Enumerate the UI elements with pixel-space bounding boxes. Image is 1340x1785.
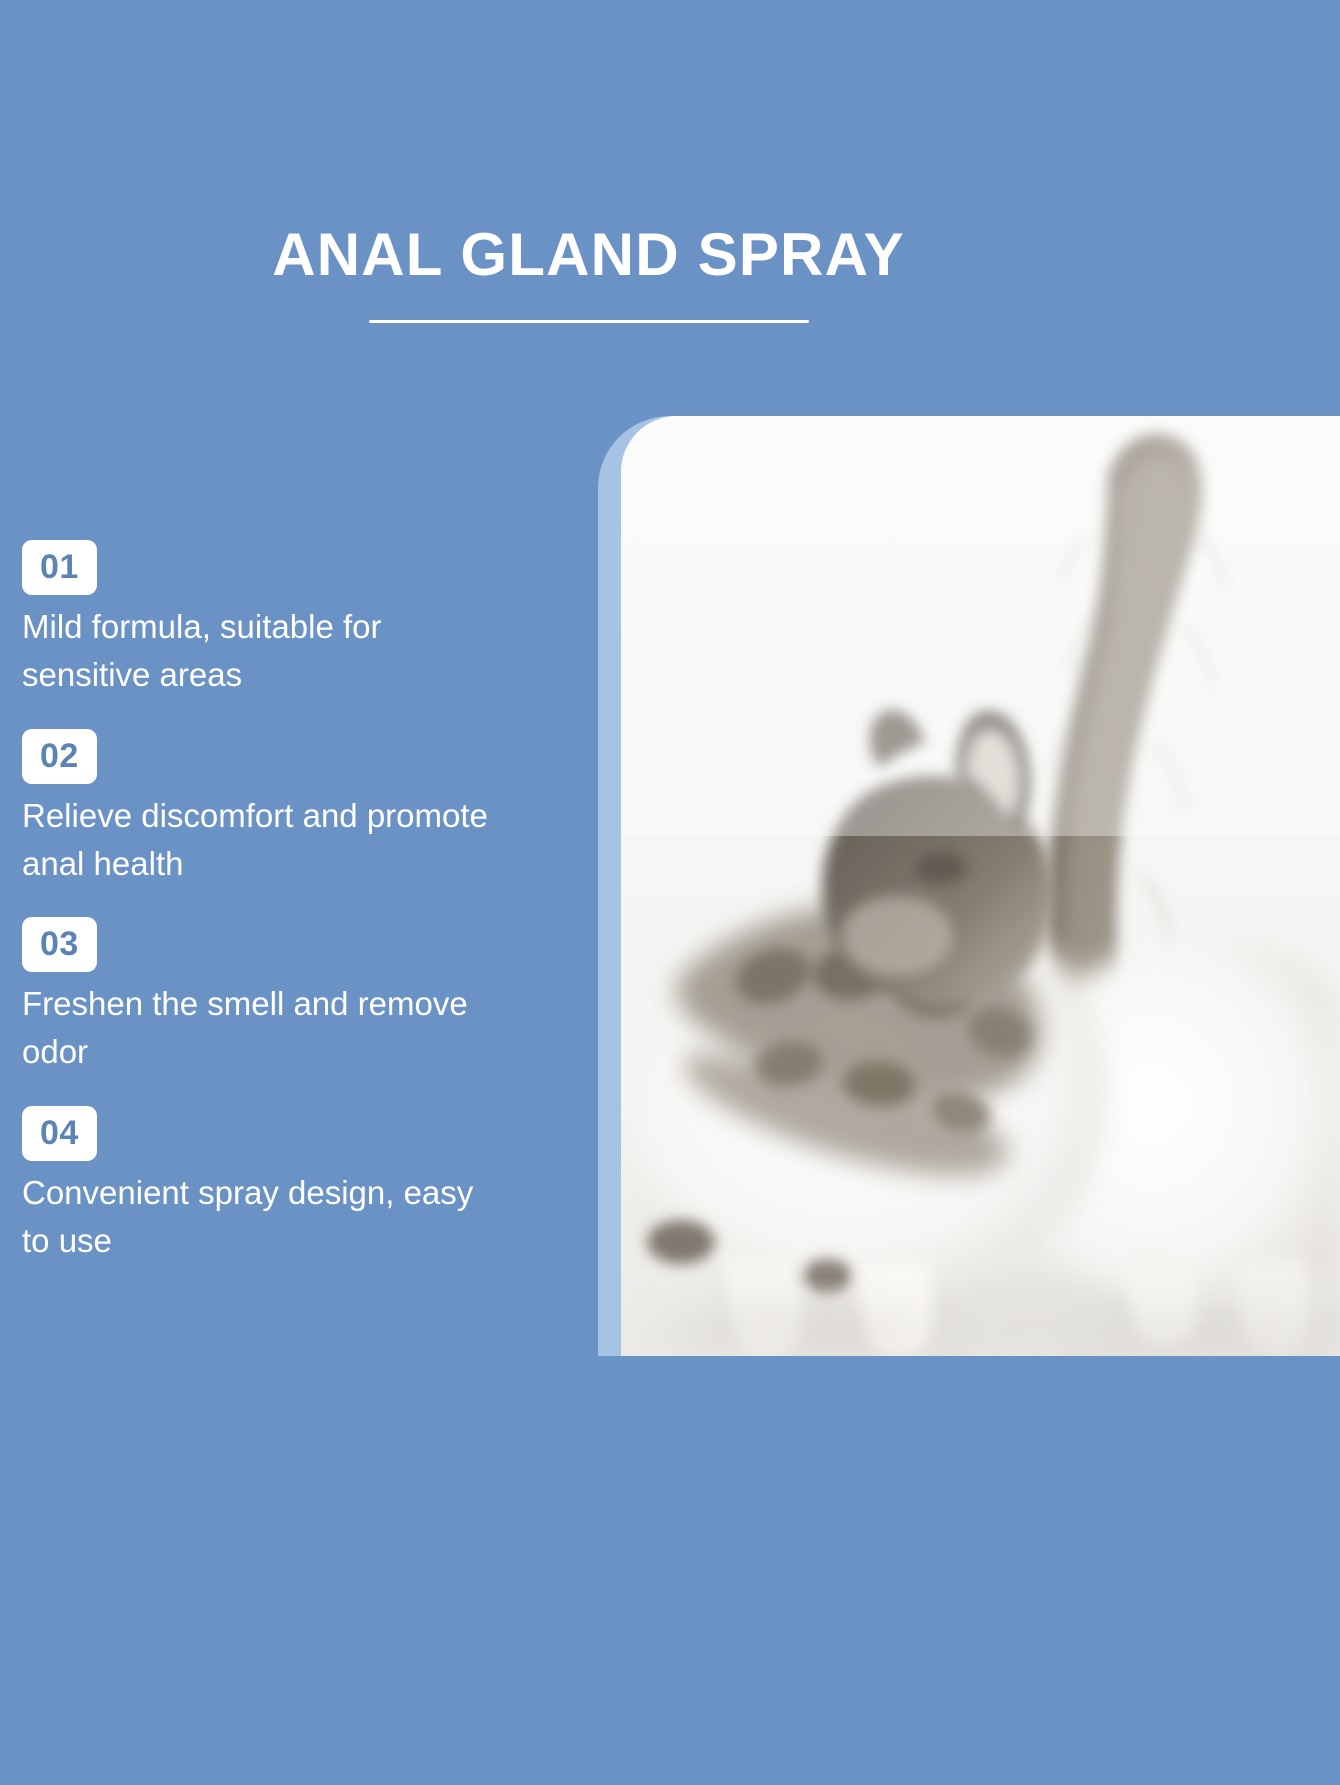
feature-number-badge: 03 (22, 917, 97, 972)
list-item: 01 Mild formula, suitable for sensitive … (22, 540, 492, 699)
title-block: ANAL GLAND SPRAY (0, 222, 1177, 323)
feature-number-badge: 02 (22, 729, 97, 784)
feature-description: Mild formula, suitable for sensitive are… (22, 603, 492, 699)
feature-description: Freshen the smell and remove odor (22, 980, 492, 1076)
list-item: 04 Convenient spray design, easy to use (22, 1106, 492, 1265)
cat-photo (621, 416, 1340, 1356)
list-item: 03 Freshen the smell and remove odor (22, 917, 492, 1076)
feature-list: 01 Mild formula, suitable for sensitive … (22, 540, 492, 1265)
feature-number-badge: 01 (22, 540, 97, 595)
feature-number-badge: 04 (22, 1106, 97, 1161)
list-item: 02 Relieve discomfort and promote anal h… (22, 729, 492, 888)
product-photo-card (598, 416, 1340, 1356)
feature-description: Convenient spray design, easy to use (22, 1169, 492, 1265)
title-divider (369, 320, 809, 323)
product-feature-poster: ANAL GLAND SPRAY 01 Mild formula, suitab… (0, 0, 1340, 1785)
page-title: ANAL GLAND SPRAY (0, 222, 1177, 288)
feature-description: Relieve discomfort and promote anal heal… (22, 792, 492, 888)
photo-frame (621, 416, 1340, 1356)
